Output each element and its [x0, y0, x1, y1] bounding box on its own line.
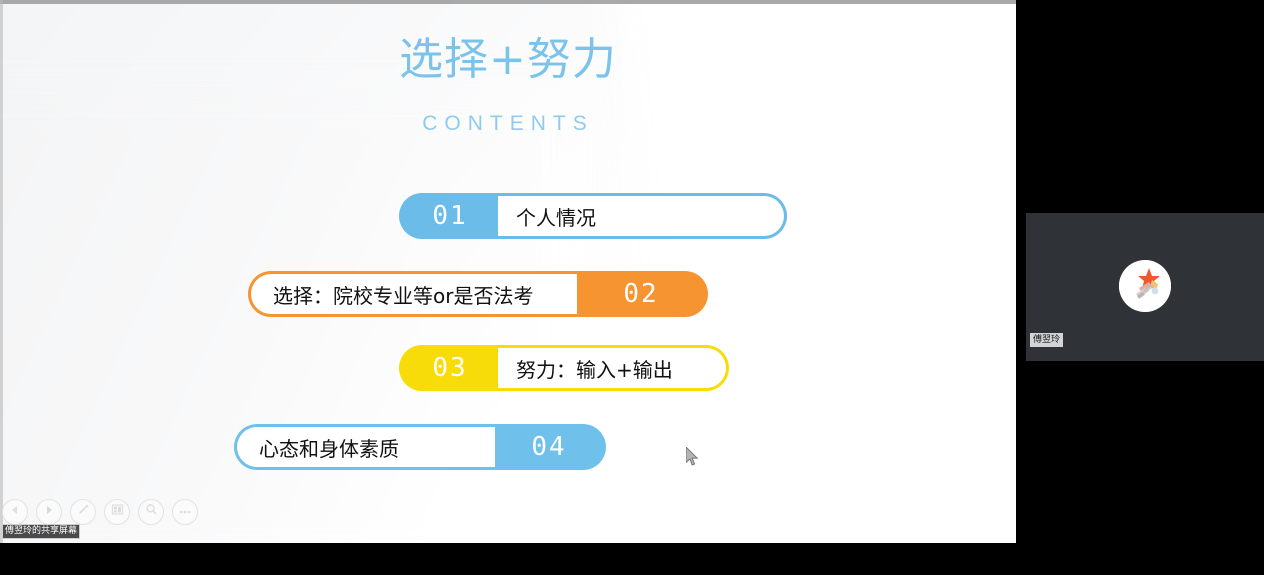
letterbox-bottom [0, 543, 1016, 575]
screen-share-view: 选择+努力 CONTENTS 01 个人情况 选择：院校专业等or是否法考 02… [0, 0, 1264, 575]
layout-button[interactable] [104, 499, 130, 525]
annotate-button[interactable] [70, 499, 96, 525]
previous-slide-button[interactable] [2, 499, 28, 525]
content-item-number: 02 [577, 274, 705, 314]
content-item-label: 选择：院校专业等or是否法考 [251, 274, 577, 314]
slide-top-border [0, 0, 1016, 4]
content-item-03[interactable]: 03 努力：输入+输出 [399, 345, 729, 391]
content-item-number: 03 [402, 348, 498, 388]
avatar-image [1119, 260, 1171, 312]
share-status-label: 傅翌玲的共享屏幕 [2, 524, 80, 539]
next-slide-button[interactable] [36, 499, 62, 525]
mouse-cursor-icon [686, 447, 700, 467]
content-item-01[interactable]: 01 个人情况 [399, 193, 787, 239]
content-item-label: 心态和身体素质 [237, 427, 495, 467]
content-item-number: 01 [402, 196, 498, 236]
participant-video-tile[interactable]: 傅翌玲 [1026, 213, 1264, 361]
participant-name-label: 傅翌玲 [1030, 333, 1063, 347]
content-item-label: 个人情况 [498, 196, 784, 236]
content-item-02[interactable]: 选择：院校专业等or是否法考 02 [248, 271, 708, 317]
page-subtitle: CONTENTS [0, 110, 1016, 138]
ellipsis-icon [178, 503, 192, 521]
magnifier-icon [145, 503, 158, 521]
shared-slide-area: 选择+努力 CONTENTS 01 个人情况 选择：院校专业等or是否法考 02… [0, 0, 1016, 543]
presenter-toolbar [2, 499, 198, 525]
zoom-button[interactable] [138, 499, 164, 525]
pen-icon [77, 503, 90, 521]
content-item-label: 努力：输入+输出 [498, 348, 726, 388]
layout-grid-icon [111, 503, 124, 521]
previous-arrow-icon [9, 503, 21, 521]
avatar [1119, 260, 1171, 312]
content-item-04[interactable]: 心态和身体素质 04 [234, 424, 606, 470]
page-title: 选择+努力 [0, 32, 1016, 88]
content-item-number: 04 [495, 427, 603, 467]
next-arrow-icon [43, 503, 55, 521]
more-options-button[interactable] [172, 499, 198, 525]
